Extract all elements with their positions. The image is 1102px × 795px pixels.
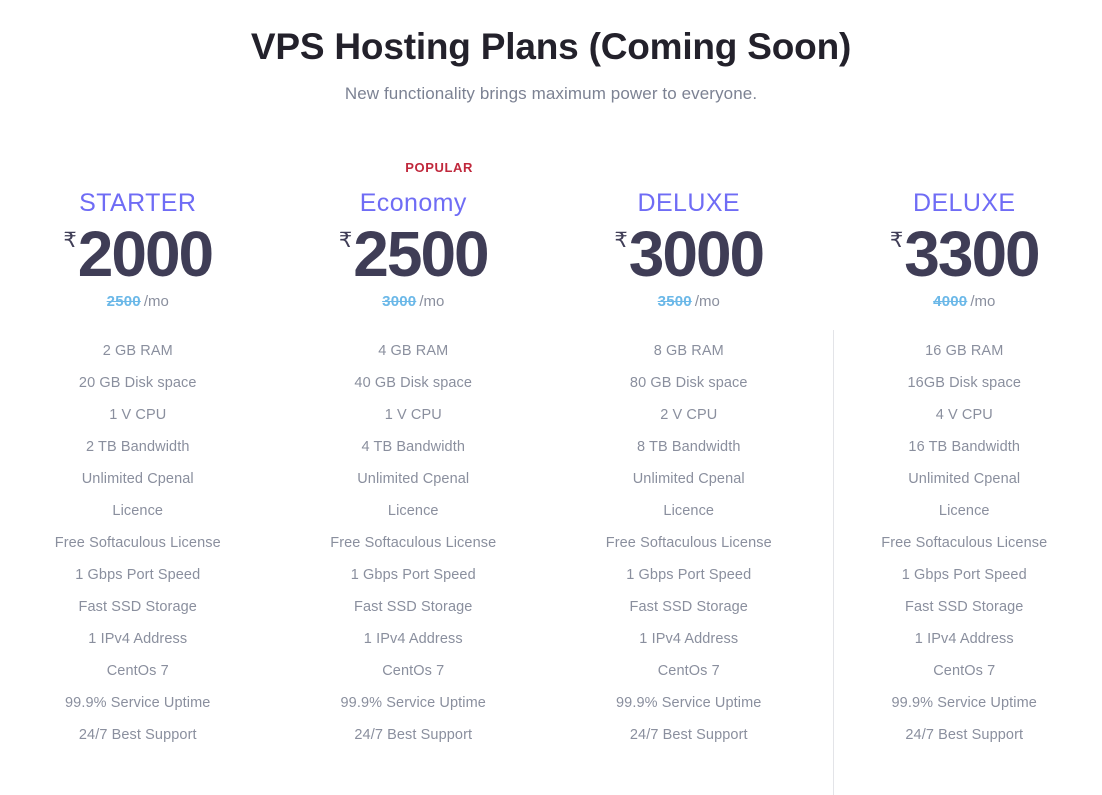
feature-item: CentOs 7 — [276, 655, 552, 687]
feature-list: 8 GB RAM 80 GB Disk space 2 V CPU 8 TB B… — [551, 335, 827, 751]
feature-item: CentOs 7 — [0, 655, 276, 687]
price-subtext: 3500/mo — [551, 294, 827, 309]
feature-item: 8 GB RAM — [551, 335, 827, 367]
feature-item: 16 TB Bandwidth — [827, 431, 1102, 463]
feature-item: 24/7 Best Support — [0, 719, 276, 751]
feature-item: 20 GB Disk space — [0, 367, 276, 399]
popular-badge: POPULAR — [405, 160, 473, 175]
original-price: 3000 — [382, 293, 416, 310]
feature-item: Licence — [827, 495, 1102, 527]
feature-list: 16 GB RAM 16GB Disk space 4 V CPU 16 TB … — [827, 335, 1102, 751]
feature-item: 99.9% Service Uptime — [551, 687, 827, 719]
feature-item: 24/7 Best Support — [276, 719, 552, 751]
feature-item: 16 GB RAM — [827, 335, 1102, 367]
price-amount: 2000 — [78, 224, 212, 285]
feature-item: 2 TB Bandwidth — [0, 431, 276, 463]
price-row: ₹ 3000 — [551, 224, 827, 285]
feature-item: 1 IPv4 Address — [276, 623, 552, 655]
page-header: VPS Hosting Plans (Coming Soon) New func… — [0, 0, 1102, 104]
plan-name: DELUXE — [551, 190, 827, 218]
page-title: VPS Hosting Plans (Coming Soon) — [0, 24, 1102, 70]
feature-item: Fast SSD Storage — [827, 591, 1102, 623]
feature-item: 99.9% Service Uptime — [276, 687, 552, 719]
pricing-plans-grid: STARTER ₹ 2000 2500/mo 2 GB RAM 20 GB Di… — [0, 160, 1102, 750]
rupee-currency-icon: ₹ — [339, 230, 352, 251]
feature-item: Unlimited Cpenal — [276, 463, 552, 495]
feature-item: 1 V CPU — [0, 399, 276, 431]
feature-item: 1 IPv4 Address — [551, 623, 827, 655]
feature-item: CentOs 7 — [827, 655, 1102, 687]
pricing-card-deluxe-3300[interactable]: DELUXE ₹ 3300 4000/mo 16 GB RAM 16GB Dis… — [827, 160, 1102, 750]
feature-item: 4 GB RAM — [276, 335, 552, 367]
feature-list: 4 GB RAM 40 GB Disk space 1 V CPU 4 TB B… — [276, 335, 552, 751]
feature-item: Unlimited Cpenal — [551, 463, 827, 495]
price-subtext: 4000/mo — [827, 294, 1102, 309]
feature-item: Unlimited Cpenal — [827, 463, 1102, 495]
billing-period: /mo — [419, 293, 444, 310]
plan-name: STARTER — [0, 190, 276, 218]
feature-item: 1 IPv4 Address — [827, 623, 1102, 655]
feature-item: Free Softaculous License — [827, 527, 1102, 559]
badge-row — [827, 160, 1102, 180]
price-row: ₹ 2000 — [0, 224, 276, 285]
badge-row — [551, 160, 827, 180]
feature-item: 1 Gbps Port Speed — [551, 559, 827, 591]
feature-item: CentOs 7 — [551, 655, 827, 687]
feature-item: Unlimited Cpenal — [0, 463, 276, 495]
price-amount: 2500 — [353, 224, 487, 285]
feature-item: Free Softaculous License — [551, 527, 827, 559]
feature-item: 8 TB Bandwidth — [551, 431, 827, 463]
feature-item: 80 GB Disk space — [551, 367, 827, 399]
original-price: 3500 — [658, 293, 692, 310]
billing-period: /mo — [970, 293, 995, 310]
feature-item: 1 V CPU — [276, 399, 552, 431]
feature-list: 2 GB RAM 20 GB Disk space 1 V CPU 2 TB B… — [0, 335, 276, 751]
price-row: ₹ 3300 — [827, 224, 1102, 285]
feature-item: Free Softaculous License — [0, 527, 276, 559]
badge-row: POPULAR — [276, 160, 552, 180]
billing-period: /mo — [144, 293, 169, 310]
price-amount: 3000 — [629, 224, 763, 285]
feature-item: Licence — [551, 495, 827, 527]
feature-item: Fast SSD Storage — [276, 591, 552, 623]
original-price: 4000 — [933, 293, 967, 310]
feature-item: 4 TB Bandwidth — [276, 431, 552, 463]
plan-name: Economy — [276, 190, 552, 218]
billing-period: /mo — [695, 293, 720, 310]
feature-item: 2 GB RAM — [0, 335, 276, 367]
original-price: 2500 — [107, 293, 141, 310]
price-subtext: 2500/mo — [0, 294, 276, 309]
pricing-card-deluxe-3000[interactable]: DELUXE ₹ 3000 3500/mo 8 GB RAM 80 GB Dis… — [551, 160, 827, 750]
pricing-card-starter[interactable]: STARTER ₹ 2000 2500/mo 2 GB RAM 20 GB Di… — [0, 160, 276, 750]
feature-item: Licence — [276, 495, 552, 527]
rupee-currency-icon: ₹ — [63, 230, 76, 251]
plan-name: DELUXE — [827, 190, 1102, 218]
feature-item: 4 V CPU — [827, 399, 1102, 431]
price-row: ₹ 2500 — [276, 224, 552, 285]
feature-item: Licence — [0, 495, 276, 527]
rupee-currency-icon: ₹ — [890, 230, 903, 251]
feature-item: Fast SSD Storage — [0, 591, 276, 623]
pricing-page: VPS Hosting Plans (Coming Soon) New func… — [0, 0, 1102, 795]
badge-row — [0, 160, 276, 180]
price-subtext: 3000/mo — [276, 294, 552, 309]
feature-item: Fast SSD Storage — [551, 591, 827, 623]
rupee-currency-icon: ₹ — [614, 230, 627, 251]
page-subtitle: New functionality brings maximum power t… — [0, 84, 1102, 104]
feature-item: 40 GB Disk space — [276, 367, 552, 399]
feature-item: 99.9% Service Uptime — [827, 687, 1102, 719]
feature-item: 1 Gbps Port Speed — [827, 559, 1102, 591]
feature-item: 16GB Disk space — [827, 367, 1102, 399]
feature-item: Free Softaculous License — [276, 527, 552, 559]
feature-item: 1 Gbps Port Speed — [0, 559, 276, 591]
feature-item: 24/7 Best Support — [827, 719, 1102, 751]
feature-item: 1 Gbps Port Speed — [276, 559, 552, 591]
pricing-card-economy[interactable]: POPULAR Economy ₹ 2500 3000/mo 4 GB RAM … — [276, 160, 552, 750]
feature-item: 1 IPv4 Address — [0, 623, 276, 655]
feature-item: 24/7 Best Support — [551, 719, 827, 751]
feature-item: 2 V CPU — [551, 399, 827, 431]
price-amount: 3300 — [904, 224, 1038, 285]
feature-item: 99.9% Service Uptime — [0, 687, 276, 719]
